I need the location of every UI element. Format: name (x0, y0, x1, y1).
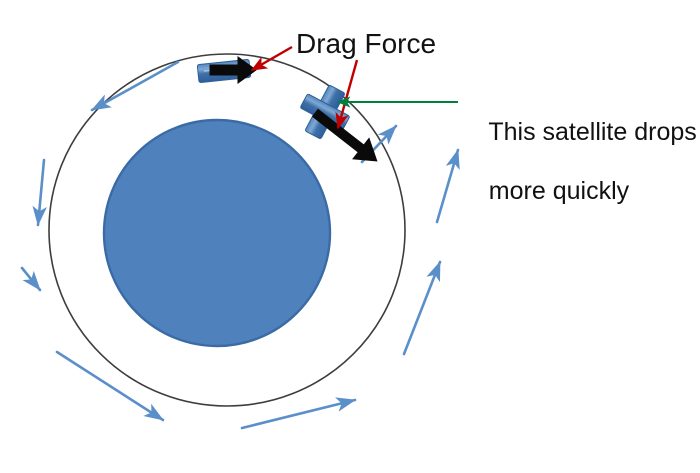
satellite-note-label: This satellite drops more quickly (461, 88, 697, 236)
motion-arrow-right-upper (437, 150, 458, 222)
satellite-note-line2: more quickly (489, 177, 629, 205)
earth (104, 120, 330, 346)
motion-arrow-bottom-center (242, 400, 355, 428)
motion-arrow-top-left (92, 62, 178, 110)
orbital-drag-diagram (0, 0, 700, 473)
diagram-canvas: Drag Force This satellite drops more qui… (0, 0, 700, 473)
motion-arrow-right-lower (404, 262, 440, 354)
motion-arrow-left-upper (38, 160, 44, 225)
satellite-note-line1: This satellite drops (488, 118, 696, 146)
pointer-drag-to-rod-satellite (252, 47, 292, 70)
motion-arrow-left-lower (22, 268, 40, 290)
drag-force-label: Drag Force (296, 27, 436, 60)
